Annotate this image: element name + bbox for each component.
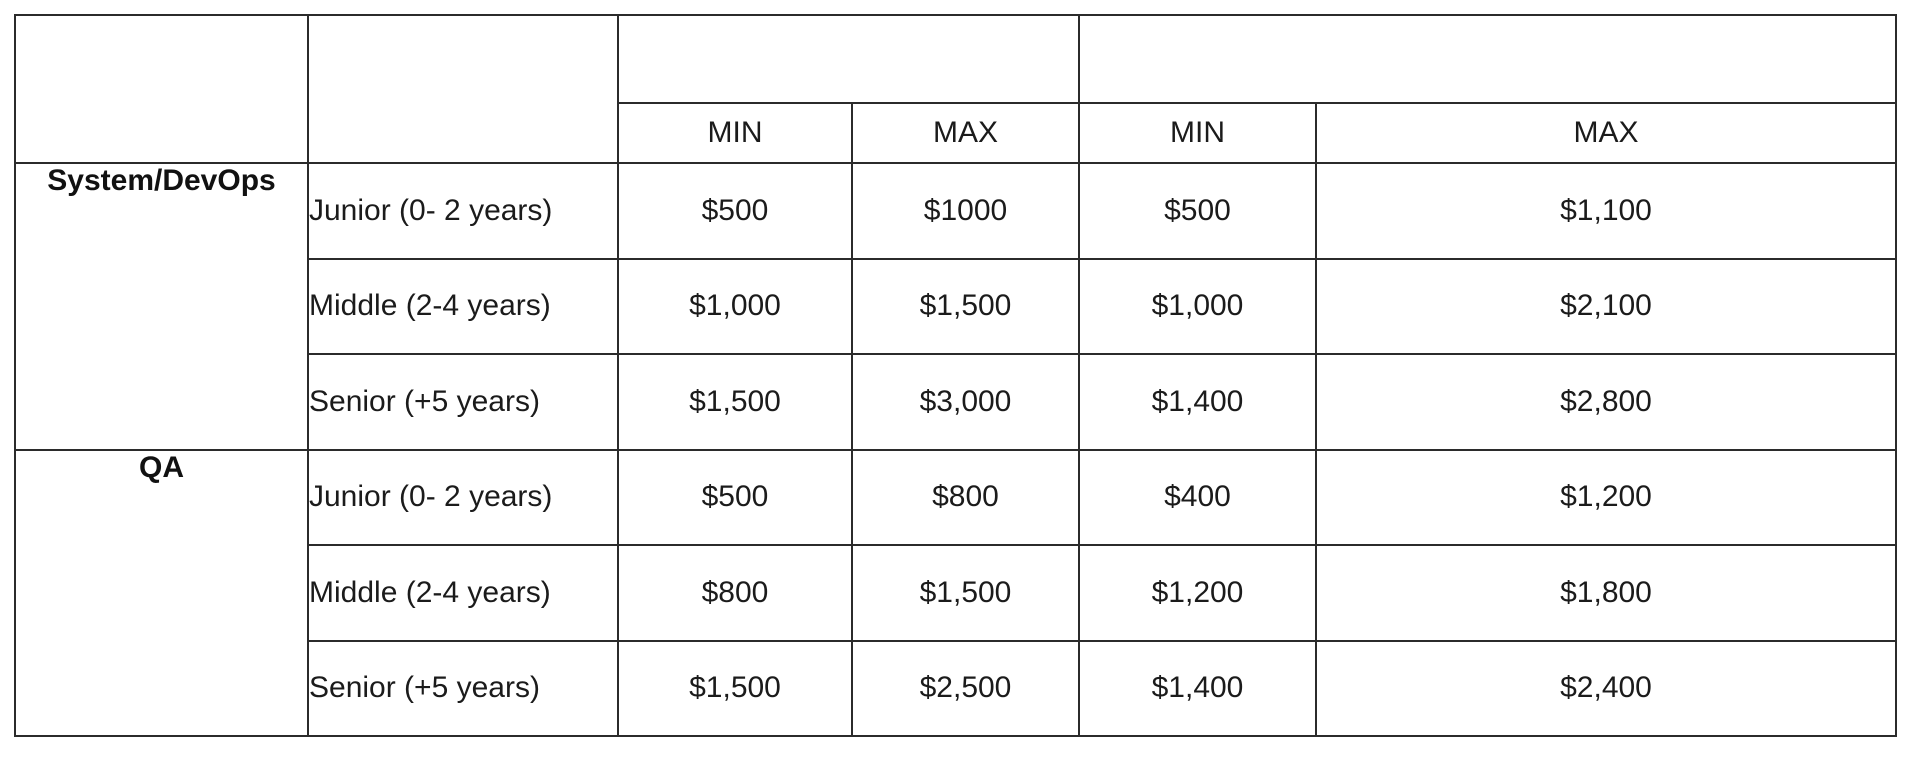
cell-indonesia-min: $1,400 bbox=[1079, 354, 1316, 450]
cell-vietnam-min: $1,500 bbox=[618, 354, 852, 450]
header-row-country: POSITION LEVEL (EXPERIENCE) VIETNAM INDO… bbox=[15, 15, 1896, 103]
column-header-level-line1: LEVEL bbox=[413, 55, 512, 88]
cell-vietnam-max: $1,500 bbox=[852, 545, 1079, 641]
cell-vietnam-min: $500 bbox=[618, 163, 852, 259]
cell-indonesia-max: $1,800 bbox=[1316, 545, 1896, 641]
cell-vietnam-max: $1000 bbox=[852, 163, 1079, 259]
cell-indonesia-max: $2,100 bbox=[1316, 259, 1896, 355]
cell-vietnam-min: $800 bbox=[618, 545, 852, 641]
cell-vietnam-max: $2,500 bbox=[852, 641, 1079, 737]
column-header-position: POSITION bbox=[15, 15, 308, 163]
cell-indonesia-min: $1,200 bbox=[1079, 545, 1316, 641]
cell-indonesia-min: $400 bbox=[1079, 450, 1316, 546]
cell-vietnam-max: $1,500 bbox=[852, 259, 1079, 355]
cell-level: Middle (2-4 years) bbox=[308, 259, 618, 355]
table-row: System/DevOpsJunior (0- 2 years)$500$100… bbox=[15, 163, 1896, 259]
cell-level: Junior (0- 2 years) bbox=[308, 163, 618, 259]
cell-indonesia-max: $1,100 bbox=[1316, 163, 1896, 259]
cell-vietnam-max: $3,000 bbox=[852, 354, 1079, 450]
table-row: QAJunior (0- 2 years)$500$800$400$1,200 bbox=[15, 450, 1896, 546]
column-header-indonesia-max: MAX bbox=[1316, 103, 1896, 163]
cell-indonesia-min: $1,400 bbox=[1079, 641, 1316, 737]
cell-vietnam-max: $800 bbox=[852, 450, 1079, 546]
column-header-level: LEVEL (EXPERIENCE) bbox=[308, 15, 618, 163]
cell-indonesia-min: $500 bbox=[1079, 163, 1316, 259]
cell-position: System/DevOps bbox=[15, 163, 308, 450]
column-header-vietnam-max: MAX bbox=[852, 103, 1079, 163]
cell-level: Senior (+5 years) bbox=[308, 354, 618, 450]
cell-vietnam-min: $1,500 bbox=[618, 641, 852, 737]
column-header-vietnam-min: MIN bbox=[618, 103, 852, 163]
cell-indonesia-max: $2,400 bbox=[1316, 641, 1896, 737]
table-head: POSITION LEVEL (EXPERIENCE) VIETNAM INDO… bbox=[15, 15, 1896, 163]
cell-indonesia-max: $2,800 bbox=[1316, 354, 1896, 450]
cell-level: Junior (0- 2 years) bbox=[308, 450, 618, 546]
cell-level: Senior (+5 years) bbox=[308, 641, 618, 737]
salary-comparison-table-container: POSITION LEVEL (EXPERIENCE) VIETNAM INDO… bbox=[14, 14, 1895, 737]
cell-position: QA bbox=[15, 450, 308, 737]
cell-vietnam-min: $500 bbox=[618, 450, 852, 546]
cell-level: Middle (2-4 years) bbox=[308, 545, 618, 641]
column-header-level-line2: (EXPERIENCE) bbox=[353, 90, 572, 123]
cell-indonesia-min: $1,000 bbox=[1079, 259, 1316, 355]
cell-indonesia-max: $1,200 bbox=[1316, 450, 1896, 546]
column-header-indonesia-min: MIN bbox=[1079, 103, 1316, 163]
column-header-vietnam: VIETNAM bbox=[618, 15, 1079, 103]
table-body: System/DevOpsJunior (0- 2 years)$500$100… bbox=[15, 163, 1896, 736]
column-header-indonesia: INDONESIA bbox=[1079, 15, 1896, 103]
salary-comparison-table: POSITION LEVEL (EXPERIENCE) VIETNAM INDO… bbox=[14, 14, 1897, 737]
cell-vietnam-min: $1,000 bbox=[618, 259, 852, 355]
